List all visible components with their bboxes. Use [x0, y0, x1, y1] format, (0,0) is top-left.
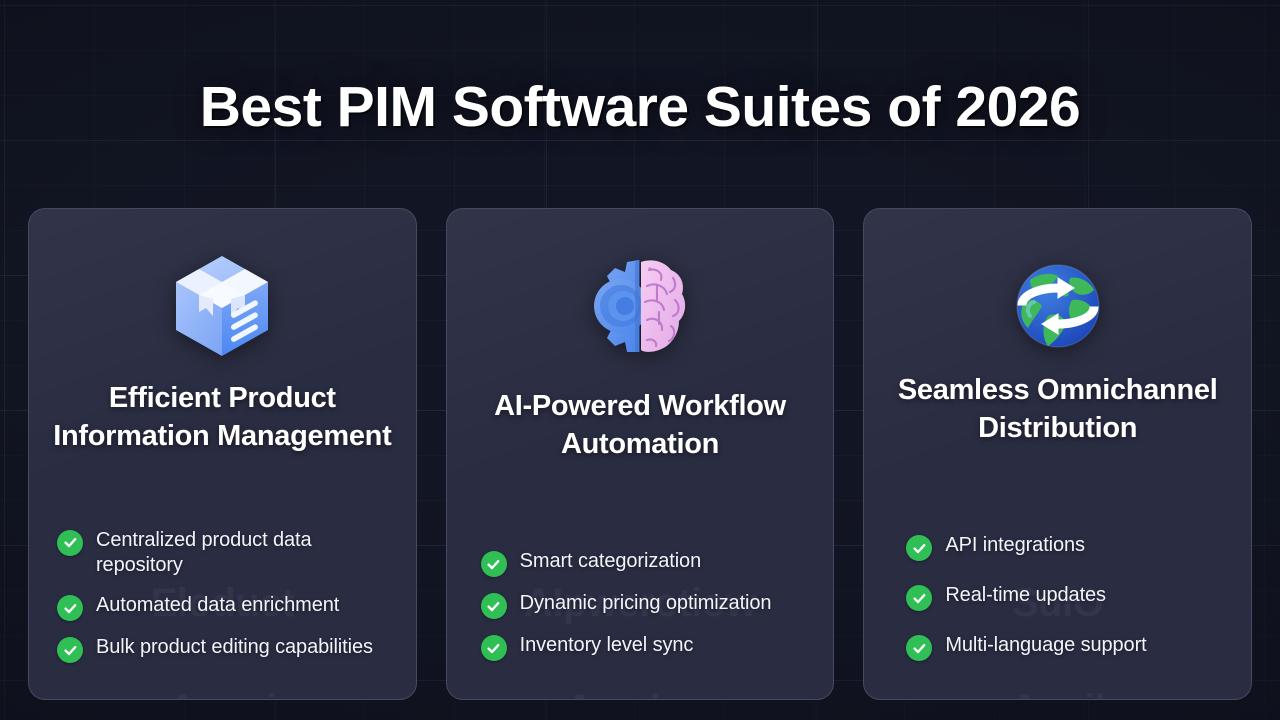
ghost-text-sub: Acoil — [864, 687, 1251, 700]
feature-list: Centralized product data repository Auto… — [47, 528, 398, 681]
feature-card-row: Eloduct Acopi — [28, 208, 1252, 700]
list-item: API integrations — [906, 533, 1229, 561]
check-circle-icon — [481, 635, 507, 661]
feature-text: Smart categorization — [520, 549, 701, 575]
gear-brain-ai-icon — [587, 253, 693, 359]
list-item: Centralized product data repository — [57, 528, 394, 579]
feature-card-product-information[interactable]: Eloduct Acopi — [28, 208, 417, 700]
card-heading: Seamless Omnichannel Distribution — [882, 371, 1233, 448]
check-circle-icon — [906, 535, 932, 561]
feature-list: Smart categorization Dynamic pricing opt… — [465, 549, 816, 681]
list-item: Bulk product editing capabilities — [57, 635, 394, 663]
check-circle-icon — [906, 585, 932, 611]
card-heading: Efficient Product Information Management — [47, 379, 398, 456]
check-circle-icon — [906, 635, 932, 661]
ghost-text-sub: Axe-low — [447, 687, 834, 700]
package-box-icon — [169, 253, 275, 359]
feature-text: API integrations — [945, 533, 1085, 559]
globe-with-arrows-icon — [1005, 253, 1111, 359]
page-title: Best PIM Software Suites of 2026 — [200, 74, 1080, 140]
list-item: Smart categorization — [481, 549, 812, 577]
feature-text: Dynamic pricing optimization — [520, 591, 772, 617]
feature-list: API integrations Real-time updates Multi… — [882, 533, 1233, 681]
list-item: Real-time updates — [906, 583, 1229, 611]
ghost-text-sub: Acopi — [29, 687, 416, 700]
slide-canvas: Best PIM Software Suites of 2026 Eloduct… — [0, 0, 1280, 720]
list-item: Dynamic pricing optimization — [481, 591, 812, 619]
feature-text: Real-time updates — [945, 583, 1106, 609]
feature-text: Inventory level sync — [520, 633, 694, 659]
feature-card-omnichannel-distribution[interactable]: SuiO Acoil — [863, 208, 1252, 700]
list-item: Multi-language support — [906, 633, 1229, 661]
feature-text: Bulk product editing capabilities — [96, 635, 373, 661]
check-circle-icon — [481, 551, 507, 577]
check-circle-icon — [481, 593, 507, 619]
list-item: Inventory level sync — [481, 633, 812, 661]
feature-text: Multi-language support — [945, 633, 1146, 659]
list-item: Automated data enrichment — [57, 593, 394, 621]
page-title-container: Best PIM Software Suites of 2026 — [0, 74, 1280, 140]
check-circle-icon — [57, 530, 83, 556]
check-circle-icon — [57, 595, 83, 621]
card-heading: AI-Powered Workflow Automation — [465, 387, 816, 464]
check-circle-icon — [57, 637, 83, 663]
feature-text: Automated data enrichment — [96, 593, 339, 619]
feature-text: Centralized product data repository — [96, 528, 394, 579]
feature-card-ai-workflow[interactable]: AIpwerotiow Axe-low — [446, 208, 835, 700]
